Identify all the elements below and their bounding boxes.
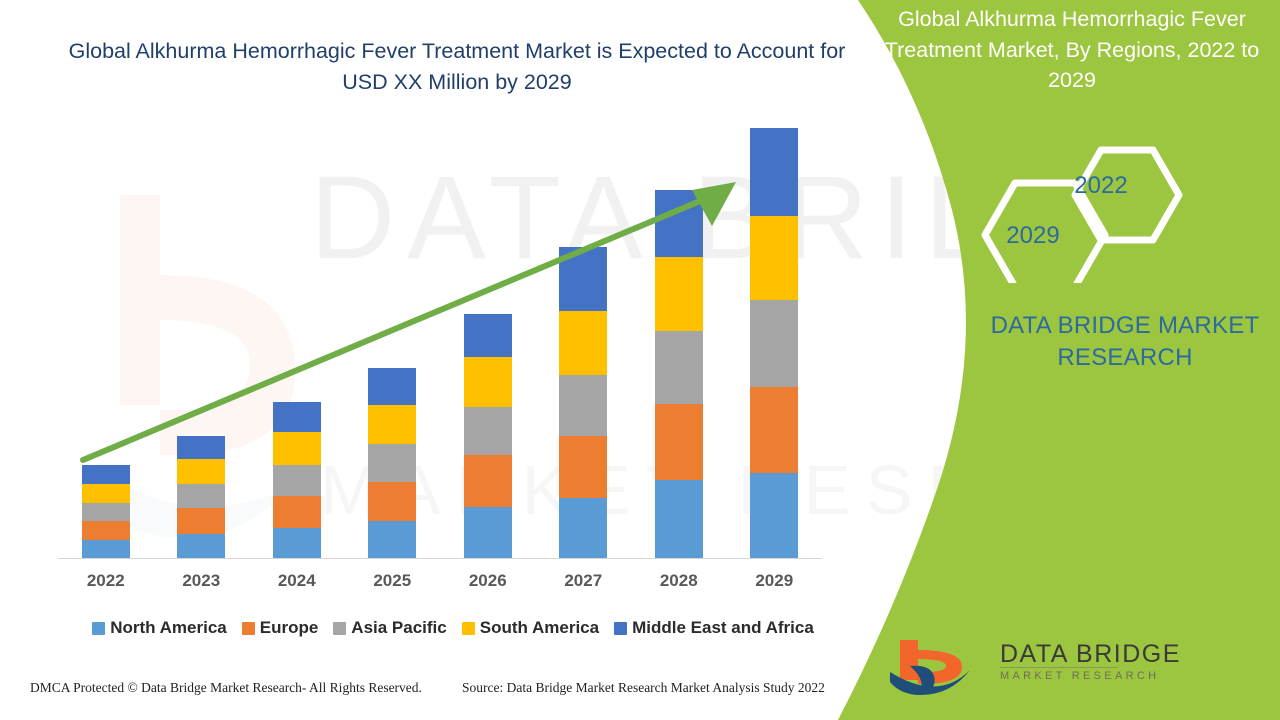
hexagon-shapes-icon <box>975 138 1195 283</box>
logo-tagline: MARKET RESEARCH <box>1000 670 1200 682</box>
logo-wordmark: DATA BRIDGE <box>1000 640 1200 669</box>
brand-name: DATA BRIDGE MARKET RESEARCH <box>960 310 1280 375</box>
hex-label-start-year: 2022 <box>1051 172 1151 200</box>
logo-divider <box>1000 667 1118 668</box>
hex-label-end-year: 2029 <box>983 222 1083 250</box>
year-hexagons: 2022 2029 <box>975 138 1195 283</box>
panel-title: Global Alkhurma Hemorrhagic Fever Treatm… <box>872 4 1272 96</box>
infographic-canvas: DATA BRIDGE MARKET RESEARCH Global Alkhu… <box>0 0 1280 720</box>
